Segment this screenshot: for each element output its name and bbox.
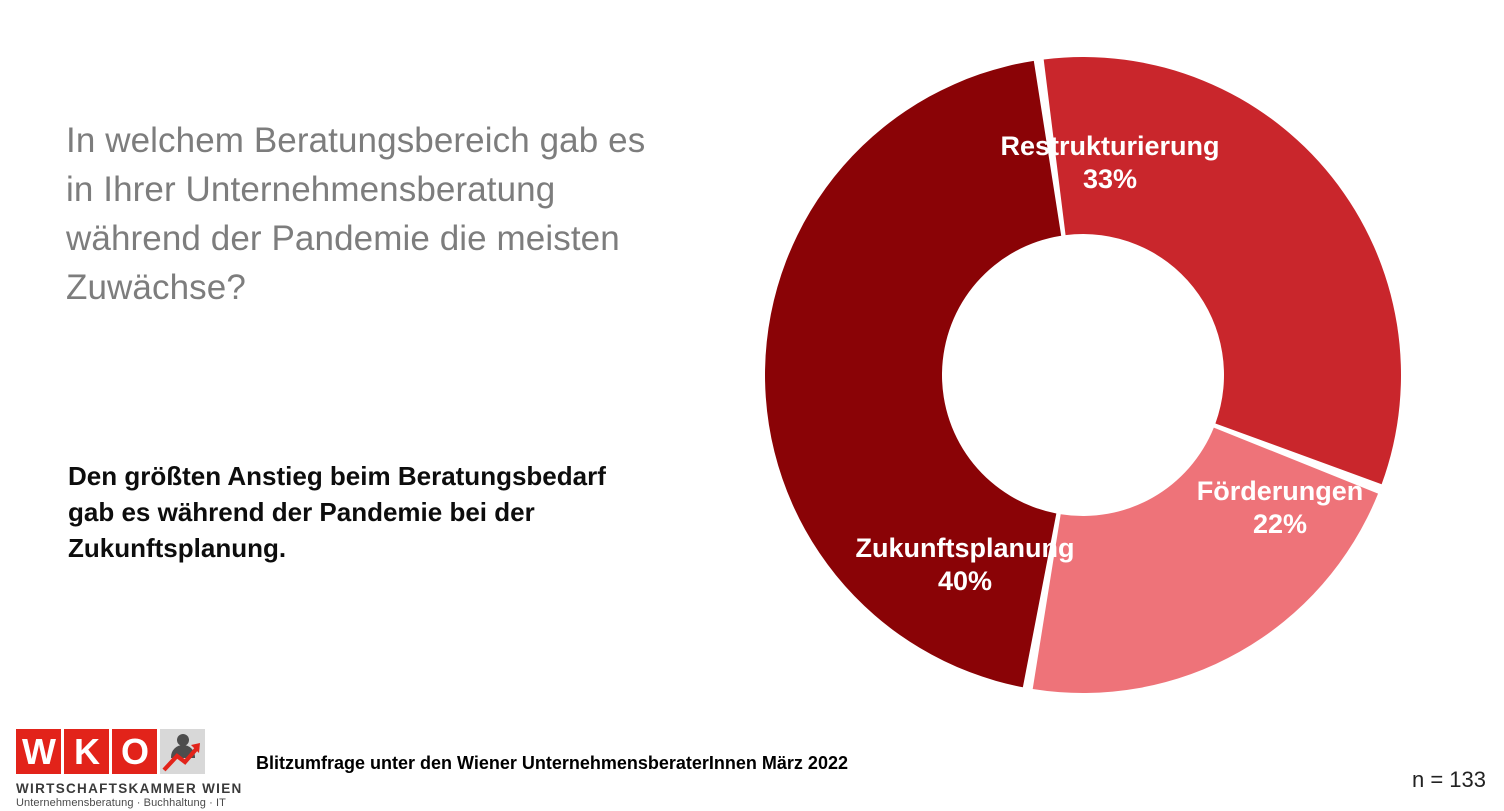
donut-slice-restrukturierung	[1044, 57, 1401, 484]
question-text: In welchem Beratungsbereich gab es in Ih…	[66, 116, 646, 312]
slice-label-foerderungen: Förderungen 22%	[1170, 475, 1390, 541]
wko-logo-wordmark: WIRTSCHAFTSKAMMER WIEN	[16, 781, 212, 796]
takeaway-text: Den größten Anstieg beim Beratungsbedarf…	[68, 458, 648, 566]
slice-label-foerderungen-name: Förderungen	[1170, 475, 1390, 508]
slice-label-zukunftsplanung-value: 40%	[820, 565, 1110, 598]
slice-label-restrukturierung-value: 33%	[960, 163, 1260, 196]
slice-label-zukunftsplanung: Zukunftsplanung 40%	[820, 532, 1110, 598]
wko-logo-tile-w: W	[16, 729, 61, 774]
wko-logo: W K O WIRTSCHAFTSKAMMER WIEN Unternehmen…	[16, 729, 212, 807]
slice-label-foerderungen-value: 22%	[1170, 508, 1390, 541]
slide: In welchem Beratungsbereich gab es in Ih…	[0, 0, 1504, 811]
wko-logo-marks: W K O	[16, 729, 212, 777]
wko-logo-subline: Unternehmensberatung · Buchhaltung · IT	[16, 797, 212, 809]
consultant-growth-icon	[160, 729, 205, 774]
wko-logo-tile-k: K	[64, 729, 109, 774]
footer-source-note: Blitzumfrage unter den Wiener Unternehme…	[256, 753, 848, 774]
growth-arrow-icon	[160, 729, 205, 774]
sample-size-label: n = 133	[1412, 767, 1486, 793]
slice-label-zukunftsplanung-name: Zukunftsplanung	[820, 532, 1110, 565]
wko-logo-tile-o: O	[112, 729, 157, 774]
donut-chart: Restrukturierung 33% Förderungen 22% Zuk…	[760, 45, 1420, 715]
slice-label-restrukturierung: Restrukturierung 33%	[960, 130, 1260, 196]
slice-label-restrukturierung-name: Restrukturierung	[960, 130, 1260, 163]
